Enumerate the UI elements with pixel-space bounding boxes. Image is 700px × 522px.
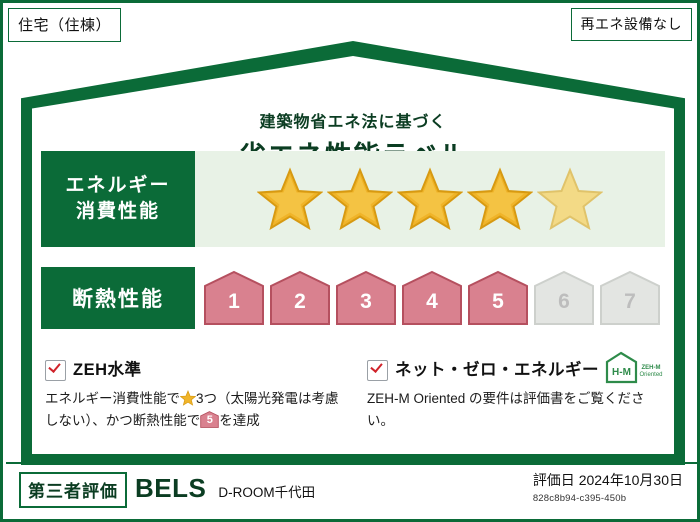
svg-text:Oriented: Oriented <box>639 372 662 378</box>
grade-chip-7-value: 7 <box>599 270 661 326</box>
footer-left-group: 第三者評価 BELS D-ROOM千代田 <box>19 472 315 508</box>
note-zeh-standard-body: エネルギー消費性能で3つ（太陽光発電は考慮しない）、かつ断熱性能で5を達成 <box>45 388 345 431</box>
insulation-label: 断熱性能 <box>72 283 164 313</box>
checkbox-checked-icon-2 <box>367 360 388 381</box>
energy-performance-label-box: エネルギー 消費性能 <box>41 151 195 247</box>
energy-label-line1: エネルギー <box>65 173 170 199</box>
note-zeh-standard-header: ZEH水準 <box>45 357 345 383</box>
grade-chip-7: 7 <box>599 270 661 326</box>
grade-chip-3: 3 <box>335 270 397 326</box>
note-zeh-standard-title: ZEH水準 <box>73 357 142 383</box>
star-icon-inline <box>180 390 196 406</box>
svg-text:H-M: H-M <box>612 367 631 378</box>
grade-chip-6-value: 6 <box>533 270 595 326</box>
grade-chip-3-value: 3 <box>335 270 397 326</box>
star-icon-filled-1 <box>257 167 323 231</box>
insulation-performance-row: 断熱性能 1 2 3 4 5 <box>41 267 665 329</box>
note-text-part2: 3つ（太陽光発電 <box>196 391 298 406</box>
note-net-zero-body: ZEH-M Oriented の要件は評価書をご覧ください。 <box>367 388 667 431</box>
grade-chip-5-value: 5 <box>467 270 529 326</box>
insulation-performance-label-box: 断熱性能 <box>41 267 195 329</box>
grade-chip-1-value: 1 <box>203 270 265 326</box>
note-net-zero-header: ネット・ゼロ・エネルギー H-M ZEH-M Oriented <box>367 357 667 383</box>
evaluation-id: 828c8b94-c395-450b <box>533 493 683 504</box>
star-icon-filled-4 <box>467 167 533 231</box>
star-icon-filled-3 <box>397 167 463 231</box>
note-net-zero-title: ネット・ゼロ・エネルギー <box>395 357 599 383</box>
grade-chip-1: 1 <box>203 270 265 326</box>
zeh-m-oriented-logo-icon: H-M ZEH-M Oriented <box>605 351 669 387</box>
energy-performance-row: エネルギー 消費性能 <box>41 151 665 247</box>
property-name: D-ROOM千代田 <box>218 481 315 501</box>
grade-badge-inline-value: 5 <box>200 411 219 428</box>
grade-chip-4: 4 <box>401 270 463 326</box>
grade-chip-5: 5 <box>467 270 529 326</box>
energy-performance-label: 住宅（住棟） 再エネ設備なし 建築物省エネ法に基づく 省エネ性能ラベル エネルギ… <box>0 0 700 522</box>
note-net-zero-energy: ネット・ゼロ・エネルギー H-M ZEH-M Oriented ZEH-M Or… <box>367 357 667 432</box>
energy-star-rating <box>195 151 665 247</box>
insulation-grade-scale: 1 2 3 4 5 6 7 <box>195 267 665 329</box>
svg-text:ZEH-M: ZEH-M <box>642 365 661 371</box>
bels-logo-text: BELS <box>135 473 206 504</box>
note-text-part1: エネルギー消費性能で <box>45 391 180 406</box>
third-party-evaluation-badge: 第三者評価 <box>19 472 127 508</box>
grade-chip-4-value: 4 <box>401 270 463 326</box>
energy-label-line2: 消費性能 <box>76 199 160 225</box>
checkbox-checked-icon <box>45 360 66 381</box>
evaluation-date: 評価日 2024年10月30日 <box>533 470 683 490</box>
tag-renewable-energy: 再エネ設備なし <box>571 8 693 41</box>
footer-right-group: 評価日 2024年10月30日 828c8b94-c395-450b <box>533 470 683 504</box>
star-icon-filled-2 <box>327 167 393 231</box>
grade-badge-inline: 5 <box>200 411 219 428</box>
note-zeh-standard: ZEH水準 エネルギー消費性能で3つ（太陽光発電は考慮しない）、かつ断熱性能で5… <box>45 357 345 432</box>
note-text-part4: を達成 <box>219 413 260 428</box>
star-icon-empty-5 <box>537 167 603 231</box>
tag-building-type: 住宅（住棟） <box>8 8 121 42</box>
grade-chip-2-value: 2 <box>269 270 331 326</box>
label-footer: 第三者評価 BELS D-ROOM千代田 評価日 2024年10月30日 828… <box>6 462 697 516</box>
grade-chip-2: 2 <box>269 270 331 326</box>
label-subtitle: 建築物省エネ法に基づく <box>3 108 700 132</box>
grade-chip-6: 6 <box>533 270 595 326</box>
